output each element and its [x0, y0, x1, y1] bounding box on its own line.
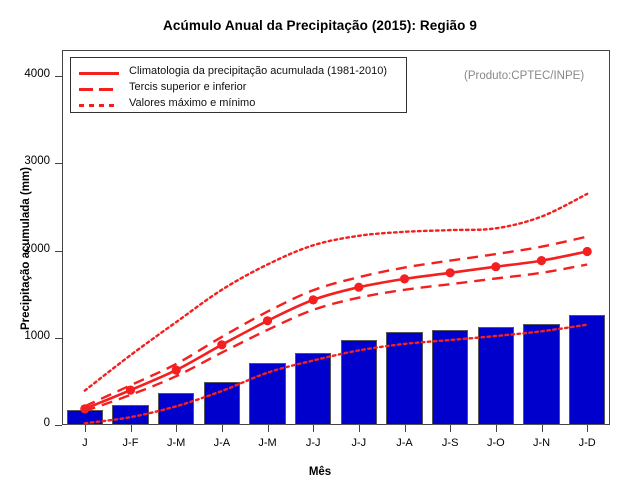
bar: [295, 353, 332, 425]
x-tick-mark: [131, 425, 132, 432]
y-tick-mark: [55, 338, 62, 339]
x-tick-mark: [405, 425, 406, 432]
product-annotation: (Produto:CPTEC/INPE): [464, 70, 584, 82]
legend: Climatologia da precipitação acumulada (…: [70, 57, 407, 113]
x-tick-label: J-D: [564, 437, 610, 449]
y-tick-label: 1000: [6, 330, 50, 342]
y-tick-mark: [55, 251, 62, 252]
bar: [478, 327, 515, 425]
page-title: Acúmulo Anual da Precipitação (2015): Re…: [0, 18, 640, 33]
legend-label: Valores máximo e mínimo: [129, 97, 255, 109]
bar: [67, 410, 104, 425]
chart-root: Acúmulo Anual da Precipitação (2015): Re…: [0, 0, 640, 500]
bar: [204, 382, 241, 425]
y-tick-label: 0: [6, 417, 50, 429]
y-tick-label: 4000: [6, 68, 50, 80]
x-tick-mark: [359, 425, 360, 432]
x-tick-mark: [496, 425, 497, 432]
x-tick-mark: [313, 425, 314, 432]
x-tick-label: J-J: [290, 437, 336, 449]
bar: [386, 332, 423, 425]
y-tick-mark: [55, 425, 62, 426]
bar: [569, 315, 606, 425]
x-tick-label: J-J: [336, 437, 382, 449]
legend-label: Tercis superior e inferior: [129, 81, 246, 93]
bar: [249, 363, 286, 425]
x-tick-mark: [268, 425, 269, 432]
bar: [523, 324, 560, 425]
x-tick-mark: [542, 425, 543, 432]
bar: [432, 330, 469, 425]
x-tick-label: J-O: [473, 437, 519, 449]
x-tick-label: J-M: [245, 437, 291, 449]
legend-key-solid-icon: [79, 72, 119, 75]
legend-label: Climatologia da precipitação acumulada (…: [129, 65, 387, 77]
y-tick-mark: [55, 163, 62, 164]
x-tick-mark: [222, 425, 223, 432]
x-tick-mark: [85, 425, 86, 432]
x-tick-label: J-M: [153, 437, 199, 449]
x-tick-label: J-A: [199, 437, 245, 449]
legend-key-dashed-icon: [79, 88, 119, 91]
bar: [158, 393, 195, 425]
bar: [341, 340, 378, 425]
x-axis-label: Mês: [0, 466, 640, 478]
x-tick-label: J-N: [519, 437, 565, 449]
legend-key-dotted-icon: [79, 104, 119, 107]
x-tick-mark: [176, 425, 177, 432]
bar: [112, 405, 149, 425]
x-tick-mark: [450, 425, 451, 432]
x-tick-label: J: [62, 437, 108, 449]
y-tick-label: 3000: [6, 155, 50, 167]
x-tick-label: J-S: [427, 437, 473, 449]
x-tick-label: J-F: [108, 437, 154, 449]
x-tick-mark: [587, 425, 588, 432]
y-axis-label: Precipitação acumulada (mm): [20, 167, 32, 330]
x-tick-label: J-A: [382, 437, 428, 449]
y-tick-mark: [55, 76, 62, 77]
